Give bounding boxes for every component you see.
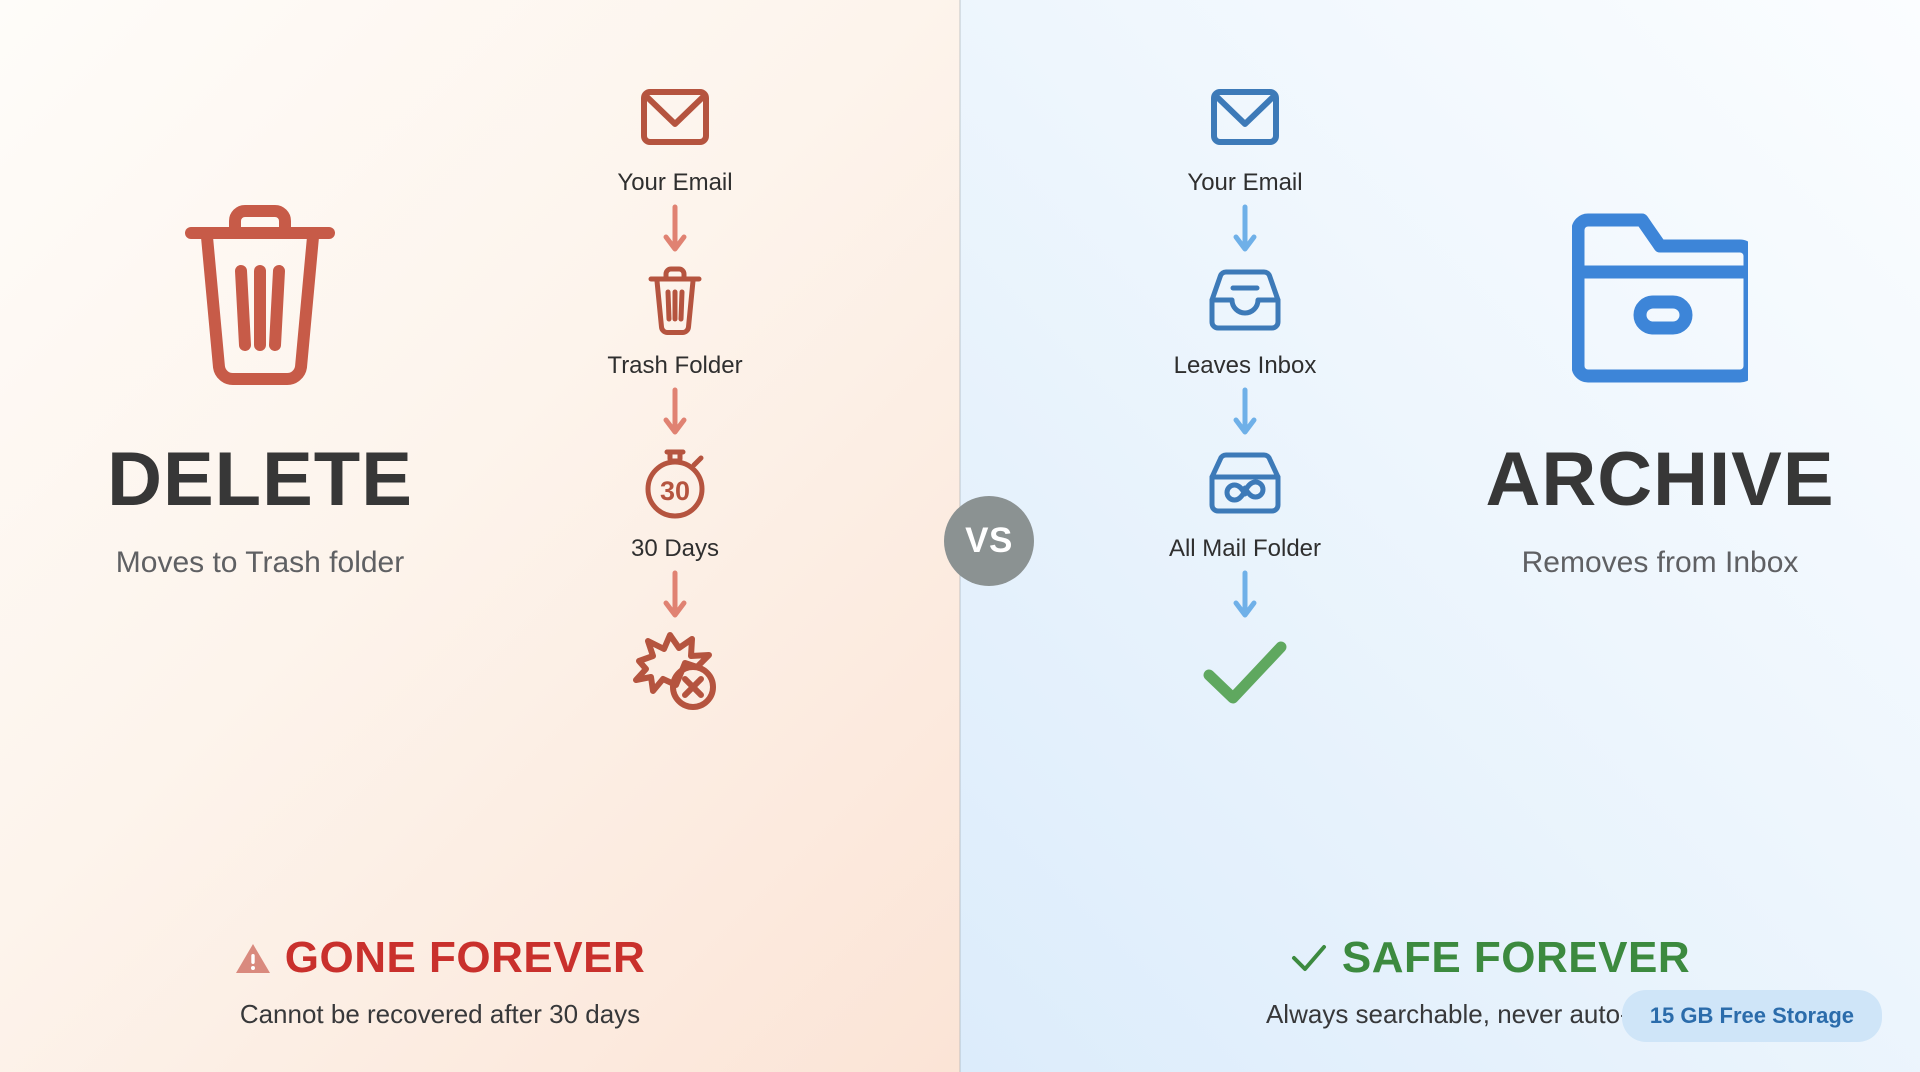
delete-flow-step-trash: Trash Folder [607,261,742,380]
delete-flow-step-30days: 30 30 Days [631,444,719,563]
archive-flow-step-inbox: Leaves Inbox [1174,261,1317,380]
arrow-down-icon [661,203,689,259]
trash-can-icon [0,185,520,400]
folder-archive-icon [1400,185,1920,400]
archive-flow-label-0: Your Email [1187,169,1302,197]
archive-flow-label-1: Leaves Inbox [1174,352,1317,380]
stopwatch-value: 30 [660,476,690,506]
delete-flow-label-2: 30 Days [631,535,719,563]
arrow-down-icon [661,386,689,442]
stopwatch-30-icon: 30 [637,444,713,522]
inbox-infinity-icon [1206,444,1284,522]
archive-panel: Your Email Leaves Inbox [960,0,1920,1072]
delete-verdict: GONE FOREVER Cannot be recovered after 3… [0,936,920,1030]
delete-flow-label-1: Trash Folder [607,352,742,380]
delete-flow: Your Email [525,78,825,715]
arrow-down-icon [1231,203,1259,259]
trash-can-icon [644,261,706,339]
arrow-down-icon [1231,386,1259,442]
envelope-icon [1209,78,1281,156]
archive-subtitle: Removes from Inbox [1400,546,1920,580]
archive-flow: Your Email Leaves Inbox [1095,78,1395,715]
inbox-tray-icon [1206,261,1284,339]
infographic-canvas: DELETE Moves to Trash folder Your Email [0,0,1920,1072]
page-title-archive: ARCHIVE [1400,442,1920,518]
archive-hero: ARCHIVE Removes from Inbox [1400,185,1920,580]
delete-hero: DELETE Moves to Trash folder [0,185,520,580]
explosion-x-icon [627,629,723,715]
page-title-delete: DELETE [0,442,520,518]
delete-flow-step-email: Your Email [617,78,732,197]
envelope-icon [639,78,711,156]
delete-verdict-detail: Cannot be recovered after 30 days [0,999,920,1030]
delete-subtitle: Moves to Trash folder [0,546,520,580]
delete-panel: DELETE Moves to Trash folder Your Email [0,0,960,1072]
archive-flow-label-2: All Mail Folder [1169,535,1321,563]
arrow-down-icon [1231,569,1259,625]
status-badge-storage: 15 GB Free Storage [1622,990,1882,1042]
check-mark-icon [1199,629,1291,715]
archive-flow-step-email: Your Email [1187,78,1302,197]
arrow-down-icon [661,569,689,625]
archive-verdict-headline-row: SAFE FOREVER [1290,936,1690,980]
archive-verdict-headline: SAFE FOREVER [1342,936,1690,980]
delete-flow-label-0: Your Email [617,169,732,197]
delete-verdict-headline-row: GONE FOREVER [235,936,646,980]
check-mark-icon [1290,943,1328,973]
archive-flow-step-allmail: All Mail Folder [1169,444,1321,563]
vs-badge: VS [944,496,1034,586]
warning-triangle-icon [235,942,271,975]
delete-verdict-headline: GONE FOREVER [285,936,646,980]
